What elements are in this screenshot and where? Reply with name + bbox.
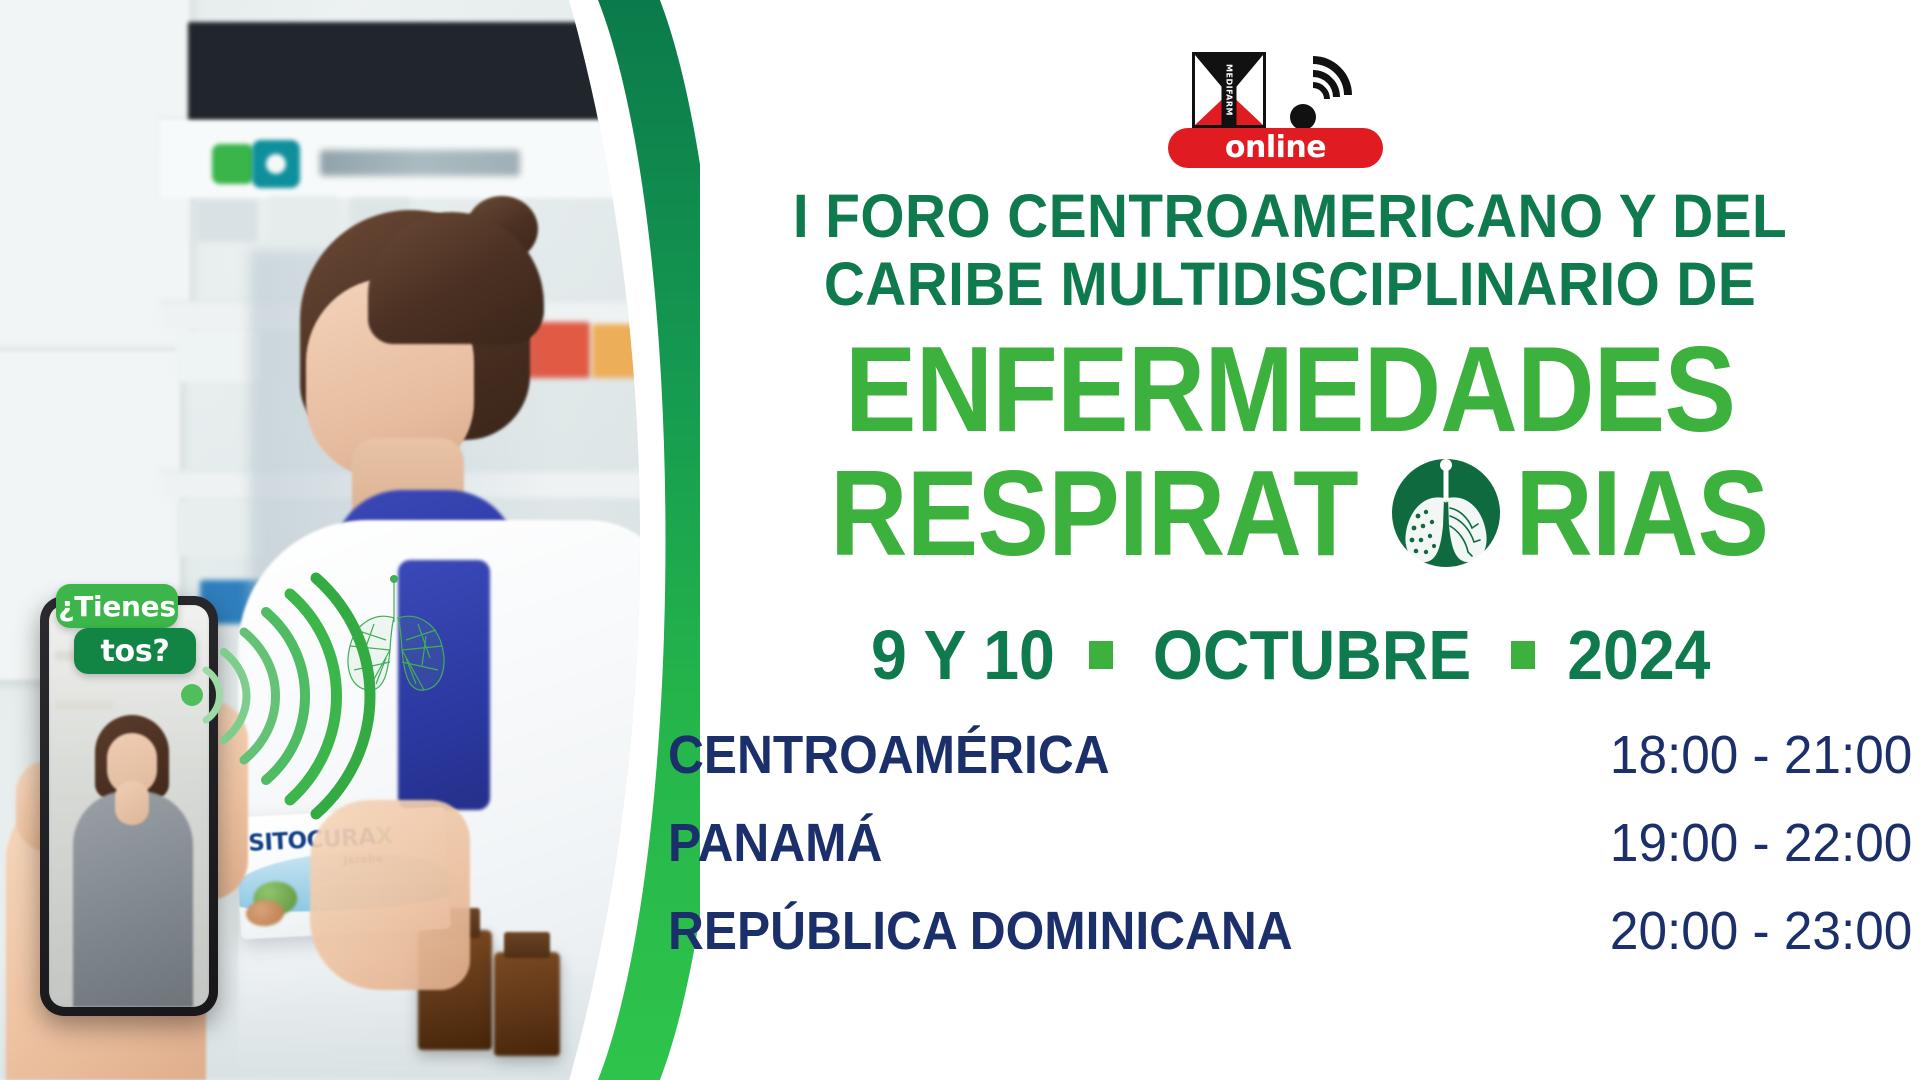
schedule-time: 18:00 - 21:00 (1610, 728, 1912, 782)
content-panel: MEDIFARM online I FORO CENTROAMERICANO Y… (660, 0, 1920, 1080)
headline-respirat-prefix: RESPIRAT (830, 452, 1358, 574)
schedule-place: PANAMÁ (668, 816, 882, 870)
m-logo-vertical-text: MEDIFARM (1225, 64, 1234, 116)
lungs-icon (1392, 452, 1500, 574)
medicine-box (196, 200, 258, 242)
shelf-logo-teal (252, 140, 300, 188)
kicker-line-2: CARIBE MULTIDISCIPLINARIO DE (704, 254, 1876, 315)
square-separator-icon (1511, 641, 1535, 669)
event-date-row: 9 Y 10 OCTUBRE 2024 (660, 620, 1920, 690)
medicine-box (592, 324, 660, 378)
schedule-row: REPÚBLICA DOMINICANA 20:00 - 23:00 (668, 904, 1912, 992)
schedule-place: CENTROAMÉRICA (668, 728, 1110, 782)
shelf-sign-text (320, 150, 520, 176)
medicine-box (176, 330, 260, 382)
video-woman-hand (115, 781, 149, 825)
schedule-row: PANAMÁ 19:00 - 22:00 (668, 816, 1912, 904)
cough-badge-line2: tos? (74, 628, 196, 674)
wireframe-lungs-icon (326, 566, 466, 706)
scene-shelf (55, 701, 113, 710)
shelf-logo-green (212, 144, 254, 184)
online-badge-label: online (1225, 133, 1326, 163)
brand-logo: MEDIFARM online (1168, 44, 1383, 169)
kicker-line-1: I FORO CENTROAMERICANO Y DEL (704, 186, 1876, 247)
pharmacy-photo-panel: SITOCURAX Jarabe ¿Tienes tos? (0, 0, 660, 1080)
cough-badge-line1: ¿Tienes (56, 584, 178, 628)
wifi-dot-icon (1290, 104, 1316, 130)
medicine-bottle (494, 952, 560, 1056)
overhead-sign (188, 22, 608, 122)
m-logo-icon: MEDIFARM (1192, 52, 1266, 128)
schedule-row: CENTROAMÉRICA 18:00 - 21:00 (668, 728, 1912, 816)
product-root-image (245, 899, 284, 927)
online-badge: online (1168, 128, 1383, 168)
square-separator-icon (1089, 641, 1113, 669)
event-month: OCTUBRE (1153, 620, 1471, 690)
event-year: 2024 (1567, 620, 1710, 690)
headline-enfermedades: ENFERMEDADES (736, 328, 1845, 450)
schedule-time: 20:00 - 23:00 (1610, 904, 1912, 958)
schedule-list: CENTROAMÉRICA 18:00 - 21:00 PANAMÁ 19:00… (668, 728, 1912, 992)
headline-respirat-suffix: RIAS (1515, 452, 1768, 574)
schedule-place: REPÚBLICA DOMINICANA (668, 904, 1293, 958)
bottle-cap (504, 932, 550, 958)
schedule-time: 19:00 - 22:00 (1610, 816, 1912, 870)
event-days: 9 Y 10 (871, 620, 1055, 690)
pharmacist-hand (310, 800, 470, 990)
medicine-box (268, 196, 338, 242)
headline-respiratorias: RESPIRAT (660, 452, 1920, 574)
event-poster: SITOCURAX Jarabe ¿Tienes tos? (0, 0, 1920, 1080)
